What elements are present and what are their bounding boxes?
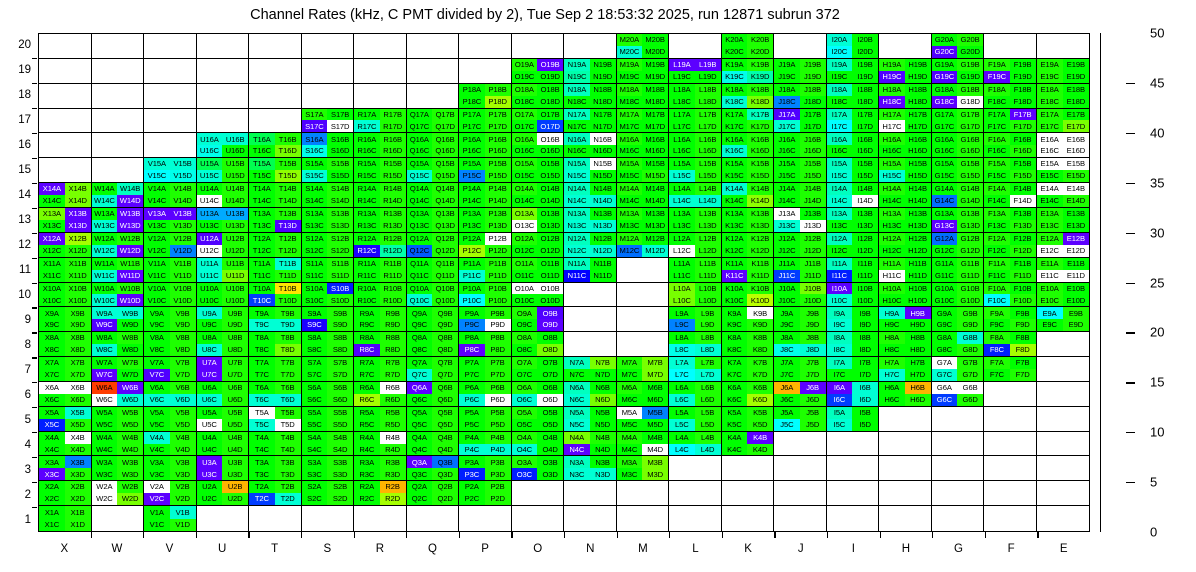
grid-cell-T19 [249,59,302,84]
grid-cell-H19: H19AH19BH19CH19D [879,59,932,84]
channel-I18D: I18D [852,96,878,108]
channel-W7C: W7C [92,369,118,381]
channel-G8D: G8D [957,344,983,356]
channel-U3C: U3C [197,468,223,480]
y-axis-label-8: 8 [1,339,31,351]
channel-U7B: U7B [222,357,248,369]
channel-P15C: P15C [459,170,485,182]
grid-cell-J19: J19AJ19BJ19CJ19D [774,59,827,84]
channel-empty [327,519,353,531]
channel-empty [117,133,143,145]
channel-F10D: F10D [1010,294,1036,306]
channel-empty [380,519,406,531]
channel-R6A: R6A [354,382,380,394]
channel-P10A: P10A [459,283,485,295]
channel-empty [222,120,248,132]
grid-cell-X19 [39,59,92,84]
grid-cell-X4: X4AX4BX4CX4D [39,432,92,457]
channel-G18D: G18D [957,96,983,108]
channel-W2B: W2B [117,481,143,493]
grid-cell-V15: V15AV15BV15CV15D [144,158,197,183]
channel-empty [537,34,563,46]
channel-S9B: S9B [327,307,353,319]
channel-R4A: R4A [354,432,380,444]
colorbar-tick [1126,332,1135,333]
channel-X12C: X12C [39,245,65,257]
channel-I17C: I17C [827,120,853,132]
channel-R15B: R15B [380,158,406,170]
channel-empty [39,145,65,157]
grid-cell-E19: E19AE19BE19CE19D [1037,59,1090,84]
grid-cell-U16: U16AU16BU16CU16D [197,133,250,158]
channel-P16A: P16A [459,133,485,145]
channel-X10B: X10B [65,283,91,295]
channel-F12D: F12D [1010,245,1036,257]
channel-empty [1037,493,1063,505]
channel-empty [800,468,826,480]
channel-R15D: R15D [380,170,406,182]
grid-cell-T10: T10AT10BT10CT10D [249,283,302,308]
channel-empty [1037,382,1063,394]
channel-empty [222,71,248,83]
channel-E19D: E19D [1063,71,1089,83]
channel-W3C: W3C [92,468,118,480]
channel-empty [327,46,353,58]
channel-S6C: S6C [302,394,328,406]
grid-cell-T2: T2AT2BT2CT2D [249,481,302,506]
x-axis-tick [985,532,986,538]
grid-cell-S18 [302,84,355,109]
channel-S14B: S14B [327,183,353,195]
channel-V14D: V14D [170,195,196,207]
channel-Q3B: Q3B [432,456,458,468]
channel-R3D: R3D [380,468,406,480]
channel-empty [879,34,905,46]
channel-O8A: O8A [512,332,538,344]
channel-K15A: K15A [722,158,748,170]
grid-cell-J9: J9AJ9BJ9CJ9D [774,307,827,332]
channel-O19A: O19A [512,59,538,71]
channel-Q16A: Q16A [407,133,433,145]
channel-X4A: X4A [39,432,65,444]
channel-U2D: U2D [222,493,248,505]
channel-S8A: S8A [302,332,328,344]
channel-K12C: K12C [722,245,748,257]
y-axis: 2019181716151413121110987654321 [0,33,36,532]
channel-T11B: T11B [275,258,301,270]
channel-R13C: R13C [354,220,380,232]
channel-S10C: S10C [302,294,328,306]
channel-H18D: H18D [905,96,931,108]
grid-cell-L12: L12AL12BL12CL12D [669,233,722,258]
grid-cell-H3 [879,456,932,481]
channel-H15B: H15B [905,158,931,170]
y-axis-tick [32,332,37,333]
channel-W9B: W9B [117,307,143,319]
channel-F16C: F16C [984,145,1010,157]
grid-cell-T7: T7AT7BT7CT7D [249,357,302,382]
channel-I14B: I14B [852,183,878,195]
channel-empty [642,481,668,493]
channel-T6D: T6D [275,394,301,406]
channel-I11A: I11A [827,258,853,270]
channel-I12C: I12C [827,245,853,257]
channel-M19D: M19D [642,71,668,83]
channel-S15D: S15D [327,170,353,182]
channel-P16B: P16B [485,133,511,145]
channel-L14B: L14B [695,183,721,195]
channel-empty [117,145,143,157]
channel-W9C: W9C [92,319,118,331]
channel-J14A: J14A [774,183,800,195]
channel-empty [275,46,301,58]
channel-empty [327,59,353,71]
channel-G17A: G17A [932,109,958,121]
channel-X8B: X8B [65,332,91,344]
channel-empty [642,270,668,282]
channel-X2B: X2B [65,481,91,493]
channel-H14A: H14A [879,183,905,195]
channel-Q8B: Q8B [432,332,458,344]
channel-E17A: E17A [1037,109,1063,121]
channel-R11B: R11B [380,258,406,270]
channel-Q14B: Q14B [432,183,458,195]
channel-E15C: E15C [1037,170,1063,182]
channel-X13B: X13B [65,208,91,220]
channel-G13D: G13D [957,220,983,232]
channel-W13B: W13B [117,208,143,220]
channel-O11C: O11C [512,270,538,282]
channel-empty [144,71,170,83]
grid-cell-I12: I12AI12BI12CI12D [827,233,880,258]
channel-empty [905,419,931,431]
channel-L9D: L9D [695,319,721,331]
channel-empty [590,46,616,58]
channel-T9B: T9B [275,307,301,319]
channel-V14B: V14B [170,183,196,195]
channel-empty [275,34,301,46]
grid-cell-V3: V3AV3BV3CV3D [144,456,197,481]
channel-R5C: R5C [354,419,380,431]
channel-P15B: P15B [485,158,511,170]
channel-N5A: N5A [564,407,590,419]
channel-K12B: K12B [747,233,773,245]
channel-Q16D: Q16D [432,145,458,157]
channel-Q10B: Q10B [432,283,458,295]
channel-R7B: R7B [380,357,406,369]
grid-cell-K11: K11AK11BK11CK11D [722,258,775,283]
channel-X1B: X1B [65,506,91,518]
channel-empty [695,519,721,531]
channel-empty [669,519,695,531]
channel-empty [617,283,643,295]
channel-W12D: W12D [117,245,143,257]
channel-R8D: R8D [380,344,406,356]
grid-cell-G20: G20AG20BG20CG20D [932,34,985,59]
channel-P12D: P12D [485,245,511,257]
grid-cell-U11: U11AU11BU11CU11D [197,258,250,283]
channel-empty [1063,493,1089,505]
channel-M20D: M20D [642,46,668,58]
channel-empty [1063,444,1089,456]
channel-empty [774,468,800,480]
channel-empty [117,59,143,71]
grid-cell-L19: L19AL19BL19CL19D [669,59,722,84]
channel-O5D: O5D [537,419,563,431]
grid-cell-U18 [197,84,250,109]
channel-S7C: S7C [302,369,328,381]
channel-R11D: R11D [380,270,406,282]
channel-H8C: H8C [879,344,905,356]
channel-empty [774,519,800,531]
channel-H14B: H14B [905,183,931,195]
channel-empty [905,493,931,505]
channel-G8B: G8B [957,332,983,344]
channel-E19A: E19A [1037,59,1063,71]
channel-Q11A: Q11A [407,258,433,270]
channel-empty [590,34,616,46]
channel-V13D: V13D [170,220,196,232]
channel-J12B: J12B [800,233,826,245]
grid-cell-O17: O17AO17BO17CO17D [512,109,565,134]
channel-K7C: K7C [722,369,748,381]
y-axis-label-16: 16 [1,139,31,151]
channel-V2C: V2C [144,493,170,505]
channel-H13B: H13B [905,208,931,220]
grid-cell-F9: F9AF9BF9CF9D [984,307,1037,332]
channel-V9D: V9D [170,319,196,331]
channel-P3B: P3B [485,456,511,468]
channel-empty [92,506,118,518]
channel-S16B: S16B [327,133,353,145]
channel-S4A: S4A [302,432,328,444]
channel-L7C: L7C [669,369,695,381]
channel-K5D: K5D [747,419,773,431]
grid-cell-N19: N19AN19BN19CN19D [564,59,617,84]
channel-R10C: R10C [354,294,380,306]
channel-V12C: V12C [144,245,170,257]
channel-S13B: S13B [327,208,353,220]
channel-empty [92,71,118,83]
channel-T7D: T7D [275,369,301,381]
channel-G20D: G20D [957,46,983,58]
channel-L5C: L5C [669,419,695,431]
grid-cell-N8 [564,332,617,357]
channel-K11D: K11D [747,270,773,282]
channel-R8A: R8A [354,332,380,344]
channel-empty [827,444,853,456]
colorbar-tick-label-45: 45 [1150,75,1164,90]
channel-T12B: T12B [275,233,301,245]
channel-empty [1037,468,1063,480]
channel-O3B: O3B [537,456,563,468]
channel-I16B: I16B [852,133,878,145]
channel-empty [774,432,800,444]
grid-cell-X3: X3AX3BX3CX3D [39,456,92,481]
channel-X6A: X6A [39,382,65,394]
grid-cell-V12: V12AV12BV12CV12D [144,233,197,258]
channel-Q9B: Q9B [432,307,458,319]
channel-E17C: E17C [1037,120,1063,132]
channel-G16C: G16C [932,145,958,157]
channel-P12A: P12A [459,233,485,245]
grid-cell-V2: V2AV2BV2CV2D [144,481,197,506]
grid-cell-P1 [459,506,512,531]
grid-cell-I3 [827,456,880,481]
channel-U13D: U13D [222,220,248,232]
channel-empty [459,46,485,58]
channel-J16A: J16A [774,133,800,145]
channel-R5A: R5A [354,407,380,419]
channel-L6D: L6D [695,394,721,406]
channel-empty [302,519,328,531]
grid-cell-H16: H16AH16BH16CH16D [879,133,932,158]
grid-cell-X13: X13AX13BX13CX13D [39,208,92,233]
channel-Q3D: Q3D [432,468,458,480]
channel-U15C: U15C [197,170,223,182]
channel-L10B: L10B [695,283,721,295]
channel-I13D: I13D [852,220,878,232]
channel-J10B: J10B [800,283,826,295]
grid-cell-R14: R14AR14BR14CR14D [354,183,407,208]
channel-H8B: H8B [905,332,931,344]
channel-I19A: I19A [827,59,853,71]
channel-G7A: G7A [932,357,958,369]
channel-empty [879,456,905,468]
channel-P14B: P14B [485,183,511,195]
channel-I19B: I19B [852,59,878,71]
channel-K5A: K5A [722,407,748,419]
colorbar-tick-label-0: 0 [1150,525,1157,540]
channel-empty [642,319,668,331]
grid-cell-R11: R11AR11BR11CR11D [354,258,407,283]
channel-O13D: O13D [537,220,563,232]
channel-E15D: E15D [1063,170,1089,182]
grid-cell-E7 [1037,357,1090,382]
channel-O6B: O6B [537,382,563,394]
channel-M15B: M15B [642,158,668,170]
x-axis-label-O: O [518,543,558,555]
channel-empty [117,519,143,531]
channel-M15D: M15D [642,170,668,182]
channel-L11C: L11C [669,270,695,282]
channel-J15A: J15A [774,158,800,170]
channel-G11B: G11B [957,258,983,270]
grid-cell-W9: W9AW9BW9CW9D [92,307,145,332]
channel-T9D: T9D [275,319,301,331]
channel-empty [275,96,301,108]
channel-E14D: E14D [1063,195,1089,207]
channel-V7A: V7A [144,357,170,369]
channel-K17B: K17B [747,109,773,121]
grid-cell-M11 [617,258,670,283]
channel-T11C: T11C [249,270,275,282]
channel-V1C: V1C [144,519,170,531]
channel-L14C: L14C [669,195,695,207]
channel-L14D: L14D [695,195,721,207]
channel-G12A: G12A [932,233,958,245]
grid-cell-R13: R13AR13BR13CR13D [354,208,407,233]
channel-P2B: P2B [485,481,511,493]
grid-cell-W12: W12AW12BW12CW12D [92,233,145,258]
channel-empty [957,419,983,431]
channel-E19B: E19B [1063,59,1089,71]
channel-empty [170,59,196,71]
channel-empty [669,481,695,493]
channel-S16A: S16A [302,133,328,145]
grid-cell-S11: S11AS11BS11CS11D [302,258,355,283]
channel-I9C: I9C [827,319,853,331]
grid-cell-R6: R6AR6BR6CR6D [354,382,407,407]
channel-empty [275,109,301,121]
colorbar-tick [1126,283,1135,284]
channel-V5A: V5A [144,407,170,419]
channel-R9C: R9C [354,319,380,331]
channel-empty [249,120,275,132]
grid-cell-S7: S7AS7BS7CS7D [302,357,355,382]
grid-cell-F3 [984,456,1037,481]
channel-N4A: N4A [564,432,590,444]
channel-T16A: T16A [249,133,275,145]
channel-empty [852,506,878,518]
channel-empty [380,96,406,108]
channel-F9C: F9C [984,319,1010,331]
grid-cell-S20 [302,34,355,59]
channel-empty [984,481,1010,493]
grid-cell-M4: M4AM4BM4CM4D [617,432,670,457]
channel-G10A: G10A [932,283,958,295]
channel-U14B: U14B [222,183,248,195]
grid-cell-O11: O11AO11BO11CO11D [512,258,565,283]
channel-W2C: W2C [92,493,118,505]
channel-P7B: P7B [485,357,511,369]
channel-empty [1063,357,1089,369]
channel-empty [957,456,983,468]
channel-J14C: J14C [774,195,800,207]
channel-V5B: V5B [170,407,196,419]
channel-O3A: O3A [512,456,538,468]
grid-cell-F15: F15AF15BF15CF15D [984,158,1037,183]
grid-cell-R17: R17AR17BR17CR17D [354,109,407,134]
channel-empty [275,506,301,518]
channel-G13B: G13B [957,208,983,220]
channel-I9B: I9B [852,307,878,319]
channel-empty [747,481,773,493]
channel-empty [879,468,905,480]
channel-empty [932,456,958,468]
channel-Q4A: Q4A [407,432,433,444]
channel-V6A: V6A [144,382,170,394]
channel-H15A: H15A [879,158,905,170]
channel-I18C: I18C [827,96,853,108]
channel-empty [957,493,983,505]
grid-cell-Q5: Q5AQ5BQ5CQ5D [407,407,460,432]
channel-P15D: P15D [485,170,511,182]
channel-L10A: L10A [669,283,695,295]
channel-empty [380,59,406,71]
channel-W8C: W8C [92,344,118,356]
channel-N19A: N19A [564,59,590,71]
channel-J18C: J18C [774,96,800,108]
channel-V4A: V4A [144,432,170,444]
grid-cell-M6: M6AM6BM6CM6D [617,382,670,407]
channel-S8C: S8C [302,344,328,356]
channel-P13B: P13B [485,208,511,220]
channel-X8D: X8D [65,344,91,356]
grid-cell-M13: M13AM13BM13CM13D [617,208,670,233]
grid-cell-X18 [39,84,92,109]
channel-F10B: F10B [1010,283,1036,295]
